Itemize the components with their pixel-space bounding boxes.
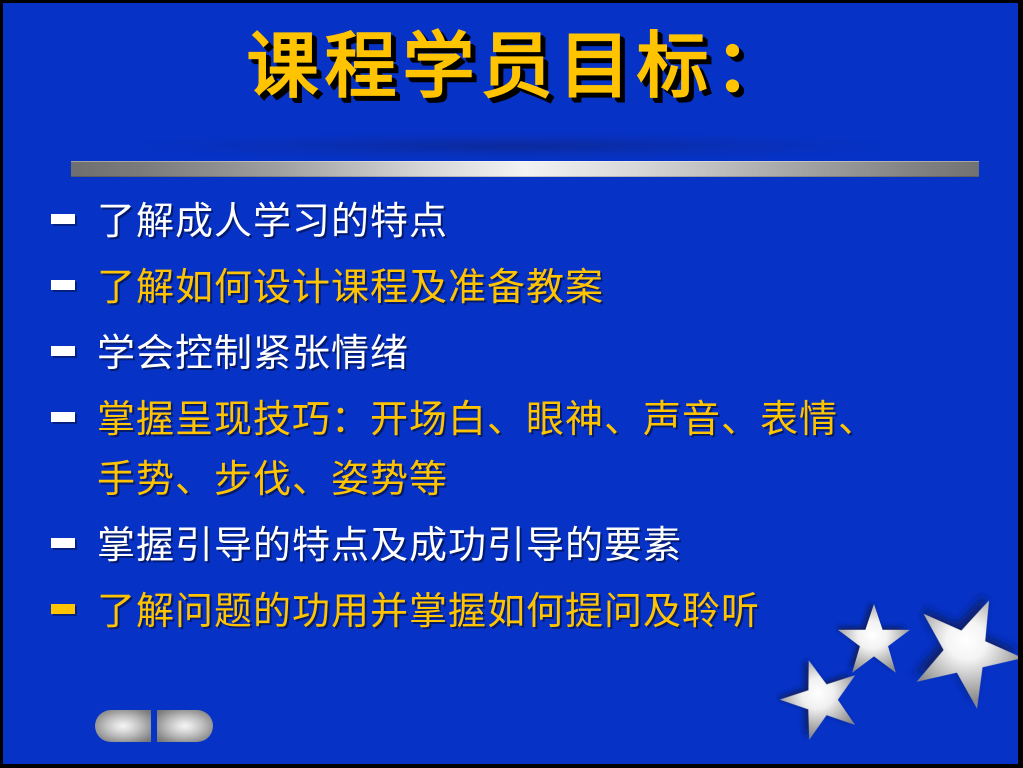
page-title: 课程学员目标： xyxy=(246,27,792,105)
bullet-marker-icon xyxy=(51,214,75,224)
list-item-label: 了解成人学习的特点 xyxy=(97,191,448,251)
list-item: 了解问题的功用并掌握如何提问及聆听 xyxy=(51,581,1001,641)
list-item-label: 了解如何设计课程及准备教案 xyxy=(97,257,604,317)
slide-navigation xyxy=(95,710,213,742)
bullet-list: 了解成人学习的特点 了解如何设计课程及准备教案 学会控制紧张情绪 掌握呈现技巧：… xyxy=(51,191,1001,647)
title-divider-bar xyxy=(71,161,979,177)
previous-slide-button[interactable] xyxy=(95,710,151,742)
list-item: 了解如何设计课程及准备教案 xyxy=(51,257,1001,317)
list-item: 掌握引导的特点及成功引导的要素 xyxy=(51,515,1001,575)
slide-canvas: 课程学员目标： 了解成人学习的特点 了解如何设计课程及准备教案 学会控制紧张情绪… xyxy=(0,0,1023,768)
slide-title-block: 课程学员目标： xyxy=(3,27,1018,105)
list-item-label: 了解问题的功用并掌握如何提问及聆听 xyxy=(97,581,760,641)
list-item: 学会控制紧张情绪 xyxy=(51,323,1001,383)
list-item-label: 掌握引导的特点及成功引导的要素 xyxy=(97,515,682,575)
title-glow-decoration xyxy=(143,133,883,159)
bullet-marker-icon xyxy=(51,538,75,548)
bullet-marker-icon xyxy=(51,412,75,422)
list-item: 了解成人学习的特点 xyxy=(51,191,1001,251)
bullet-marker-icon xyxy=(51,280,75,290)
bullet-marker-icon xyxy=(51,346,75,356)
list-item-label: 学会控制紧张情绪 xyxy=(97,323,409,383)
bullet-marker-icon xyxy=(51,604,75,614)
next-slide-button[interactable] xyxy=(157,710,213,742)
star-icon-small-lower xyxy=(767,644,875,752)
list-item-label: 掌握呈现技巧：开场白、眼神、声音、表情、 手势、步伐、姿势等 xyxy=(97,389,877,509)
list-item: 掌握呈现技巧：开场白、眼神、声音、表情、 手势、步伐、姿势等 xyxy=(51,389,1001,509)
